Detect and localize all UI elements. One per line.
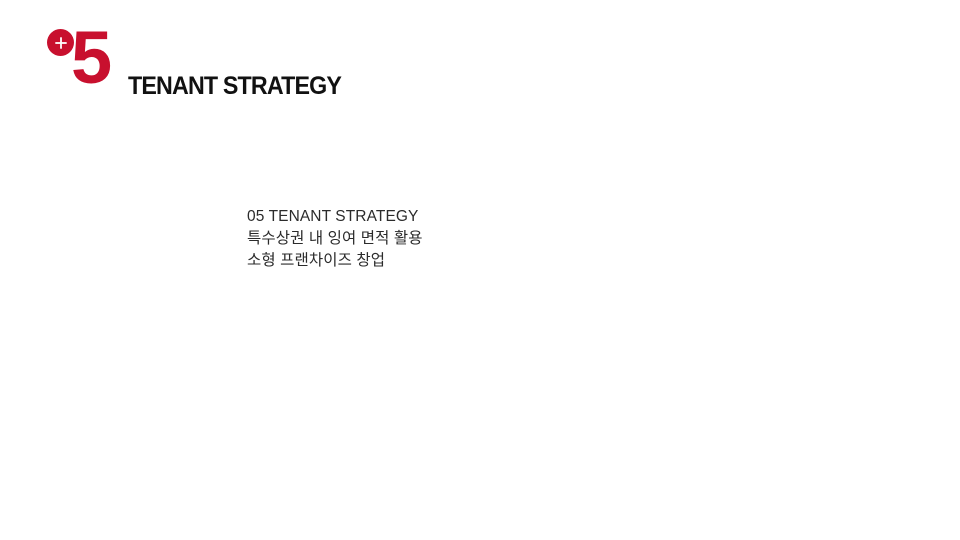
description-line: 05 TENANT STRATEGY xyxy=(247,206,423,228)
plus-icon xyxy=(47,29,74,56)
section-title: TENANT STRATEGY xyxy=(128,72,341,101)
section-description: 05 TENANT STRATEGY 특수상권 내 잉여 면적 활용 소형 프랜… xyxy=(247,206,423,272)
slide-canvas: 5 TENANT STRATEGY 05 TENANT STRATEGY 특수상… xyxy=(0,0,960,540)
section-number: 5 xyxy=(71,21,110,95)
description-line: 소형 프랜차이즈 창업 xyxy=(247,250,423,272)
description-line: 특수상권 내 잉여 면적 활용 xyxy=(247,228,423,250)
